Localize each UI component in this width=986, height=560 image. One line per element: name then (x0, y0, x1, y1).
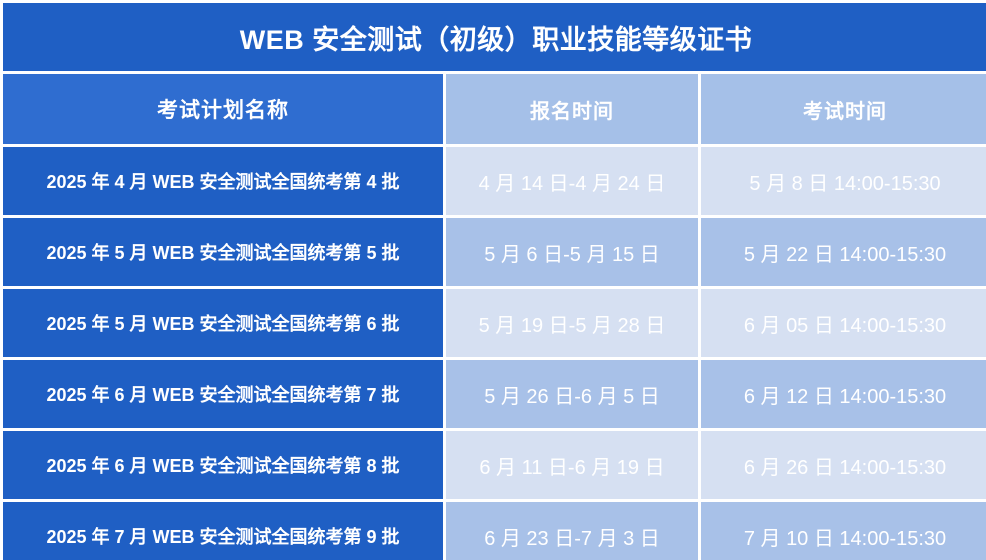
cell-plan-name: 2025 年 5 月 WEB 安全测试全国统考第 5 批 (3, 218, 443, 286)
title-row: WEB 安全测试（初级）职业技能等级证书 (3, 3, 986, 71)
cell-exam-time: 7 月 10 日 14:00-15:30 (701, 502, 986, 560)
cell-registration-time: 5 月 26 日-6 月 5 日 (446, 360, 698, 428)
cell-exam-time: 6 月 12 日 14:00-15:30 (701, 360, 986, 428)
cell-exam-time: 5 月 8 日 14:00-15:30 (701, 147, 986, 215)
cell-registration-time: 5 月 19 日-5 月 28 日 (446, 289, 698, 357)
table-row: 2025 年 4 月 WEB 安全测试全国统考第 4 批 4 月 14 日-4 … (3, 147, 986, 215)
table-row: 2025 年 5 月 WEB 安全测试全国统考第 5 批 5 月 6 日-5 月… (3, 218, 986, 286)
column-header-plan-name: 考试计划名称 (3, 74, 443, 144)
table-row: 2025 年 6 月 WEB 安全测试全国统考第 7 批 5 月 26 日-6 … (3, 360, 986, 428)
column-header-exam-time: 考试时间 (701, 74, 986, 144)
certificate-schedule-page: WEB 安全测试（初级）职业技能等级证书 考试计划名称 报名时间 考试时间 20… (0, 0, 986, 560)
cell-plan-name: 2025 年 7 月 WEB 安全测试全国统考第 9 批 (3, 502, 443, 560)
cell-registration-time: 4 月 14 日-4 月 24 日 (446, 147, 698, 215)
table-row: 2025 年 7 月 WEB 安全测试全国统考第 9 批 6 月 23 日-7 … (3, 502, 986, 560)
table-body: WEB 安全测试（初级）职业技能等级证书 考试计划名称 报名时间 考试时间 20… (3, 3, 986, 560)
cell-plan-name: 2025 年 6 月 WEB 安全测试全国统考第 8 批 (3, 431, 443, 499)
cell-registration-time: 6 月 11 日-6 月 19 日 (446, 431, 698, 499)
table-row: 2025 年 6 月 WEB 安全测试全国统考第 8 批 6 月 11 日-6 … (3, 431, 986, 499)
cell-exam-time: 6 月 05 日 14:00-15:30 (701, 289, 986, 357)
cell-exam-time: 6 月 26 日 14:00-15:30 (701, 431, 986, 499)
cell-plan-name: 2025 年 6 月 WEB 安全测试全国统考第 7 批 (3, 360, 443, 428)
exam-schedule-table: WEB 安全测试（初级）职业技能等级证书 考试计划名称 报名时间 考试时间 20… (0, 0, 986, 560)
cell-registration-time: 5 月 6 日-5 月 15 日 (446, 218, 698, 286)
table-header-row: 考试计划名称 报名时间 考试时间 (3, 74, 986, 144)
cell-plan-name: 2025 年 4 月 WEB 安全测试全国统考第 4 批 (3, 147, 443, 215)
cell-registration-time: 6 月 23 日-7 月 3 日 (446, 502, 698, 560)
column-header-registration-time: 报名时间 (446, 74, 698, 144)
table-row: 2025 年 5 月 WEB 安全测试全国统考第 6 批 5 月 19 日-5 … (3, 289, 986, 357)
cell-plan-name: 2025 年 5 月 WEB 安全测试全国统考第 6 批 (3, 289, 443, 357)
page-title: WEB 安全测试（初级）职业技能等级证书 (3, 3, 986, 71)
cell-exam-time: 5 月 22 日 14:00-15:30 (701, 218, 986, 286)
